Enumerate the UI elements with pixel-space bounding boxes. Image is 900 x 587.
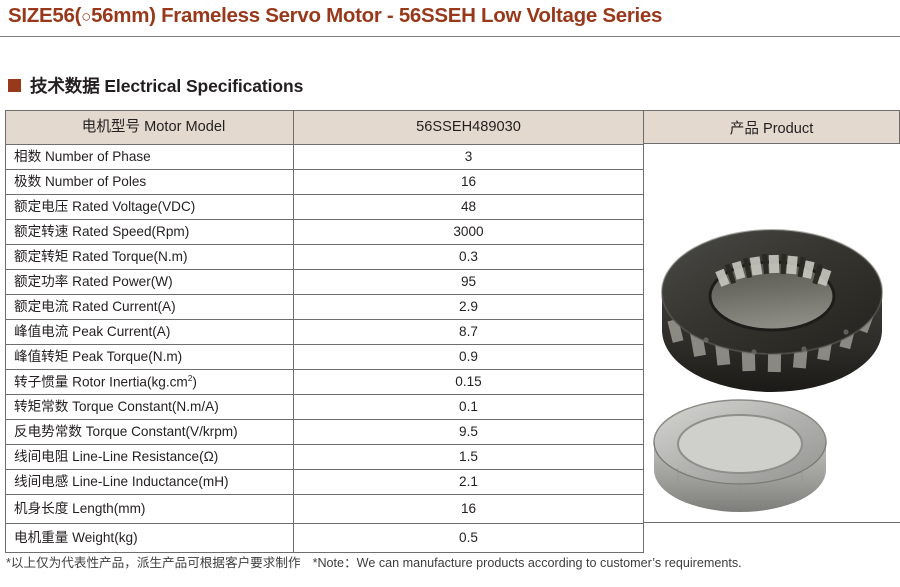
footnote: *以上仅为代表性产品，派生产品可根据客户要求制作*Note：We can man…: [6, 552, 742, 571]
spec-value: 0.5: [294, 524, 644, 553]
spec-label: 额定转矩 Rated Torque(N.m): [6, 245, 294, 270]
spec-value: 16: [294, 495, 644, 524]
table-row: 额定电流 Rated Current(A)2.9: [6, 295, 644, 320]
section-heading: 技术数据 Electrical Specifications: [8, 73, 303, 98]
table-header-row: 电机型号 Motor Model 56SSEH489030: [6, 111, 644, 145]
spec-label: 转矩常数 Torque Constant(N.m/A): [6, 395, 294, 420]
spec-value: 2.1: [294, 470, 644, 495]
page-title-prefix: SIZE56: [8, 4, 75, 27]
table-row: 峰值转矩 Peak Torque(N.m)0.9: [6, 345, 644, 370]
page-title-size: 56mm: [91, 4, 149, 27]
table-row: 电机重量 Weight(kg)0.5: [6, 524, 644, 553]
page-title-paren-close: ): [149, 4, 156, 27]
page-title: SIZE56(○56mm) Frameless Servo Motor - 56…: [8, 4, 662, 28]
page-title-rest: Frameless Servo Motor - 56SSEH Low Volta…: [161, 4, 662, 27]
spec-label: 相数 Number of Phase: [6, 145, 294, 170]
footnote-en: *Note：We can manufacture products accord…: [313, 556, 742, 570]
spec-value: 0.9: [294, 345, 644, 370]
table-row: 额定转矩 Rated Torque(N.m)0.3: [6, 245, 644, 270]
rotor-ring-image: [654, 400, 826, 512]
filled-square-icon: [8, 79, 21, 92]
spec-value: 8.7: [294, 320, 644, 345]
spec-value: 2.9: [294, 295, 644, 320]
spec-value: 95: [294, 270, 644, 295]
table-row: 额定电压 Rated Voltage(VDC)48: [6, 195, 644, 220]
table-row: 峰值电流 Peak Current(A)8.7: [6, 320, 644, 345]
section-heading-label: 技术数据 Electrical Specifications: [30, 73, 303, 98]
table-row: 转矩常数 Torque Constant(N.m/A)0.1: [6, 395, 644, 420]
spec-sheet-page: SIZE56(○56mm) Frameless Servo Motor - 56…: [0, 0, 900, 587]
spec-label: 机身长度 Length(mm): [6, 495, 294, 524]
table-row: 相数 Number of Phase3: [6, 145, 644, 170]
footnote-cn: *以上仅为代表性产品，派生产品可根据客户要求制作: [6, 556, 301, 570]
motor-assembly-image: [644, 144, 900, 522]
spec-label: 峰值电流 Peak Current(A): [6, 320, 294, 345]
spec-label: 额定电压 Rated Voltage(VDC): [6, 195, 294, 220]
spec-label: 额定电流 Rated Current(A): [6, 295, 294, 320]
spec-label: 峰值转矩 Peak Torque(N.m): [6, 345, 294, 370]
spec-value: 48: [294, 195, 644, 220]
column-header-motor-model: 电机型号 Motor Model: [6, 111, 294, 145]
spec-value: 3: [294, 145, 644, 170]
column-header-model-value: 56SSEH489030: [294, 111, 644, 145]
column-header-product: 产品 Product: [644, 110, 900, 144]
product-column: 产品 Product: [643, 110, 900, 523]
table-row: 极数 Number of Poles16: [6, 170, 644, 195]
table-row: 机身长度 Length(mm)16: [6, 495, 644, 524]
spec-label: 电机重量 Weight(kg): [6, 524, 294, 553]
table-row: 线间电感 Line-Line Inductance(mH)2.1: [6, 470, 644, 495]
spec-value: 1.5: [294, 445, 644, 470]
table-row: 转子惯量 Rotor Inertia(kg.cm2)0.15: [6, 370, 644, 395]
spec-value: 0.3: [294, 245, 644, 270]
table-row: 额定功率 Rated Power(W)95: [6, 270, 644, 295]
spec-value: 16: [294, 170, 644, 195]
electrical-specifications-table: 电机型号 Motor Model 56SSEH489030 相数 Number …: [5, 110, 644, 553]
table-row: 额定转速 Rated Speed(Rpm)3000: [6, 220, 644, 245]
spec-label: 线间电阻 Line-Line Resistance(Ω): [6, 445, 294, 470]
spec-label: 额定转速 Rated Speed(Rpm): [6, 220, 294, 245]
stator-ring-image: [662, 230, 882, 392]
table-row: 线间电阻 Line-Line Resistance(Ω)1.5: [6, 445, 644, 470]
spec-value: 9.5: [294, 420, 644, 445]
spec-value: 0.15: [294, 370, 644, 395]
spec-label: 极数 Number of Poles: [6, 170, 294, 195]
spec-value: 0.1: [294, 395, 644, 420]
spec-label: 反电势常数 Torque Constant(V/krpm): [6, 420, 294, 445]
title-divider: [0, 36, 900, 37]
spec-value: 3000: [294, 220, 644, 245]
spec-label: 转子惯量 Rotor Inertia(kg.cm2): [6, 370, 294, 395]
spec-label: 额定功率 Rated Power(W): [6, 270, 294, 295]
diameter-circle-icon: ○: [81, 7, 91, 26]
product-image-area: [644, 144, 900, 522]
table-row: 反电势常数 Torque Constant(V/krpm)9.5: [6, 420, 644, 445]
spec-label: 线间电感 Line-Line Inductance(mH): [6, 470, 294, 495]
